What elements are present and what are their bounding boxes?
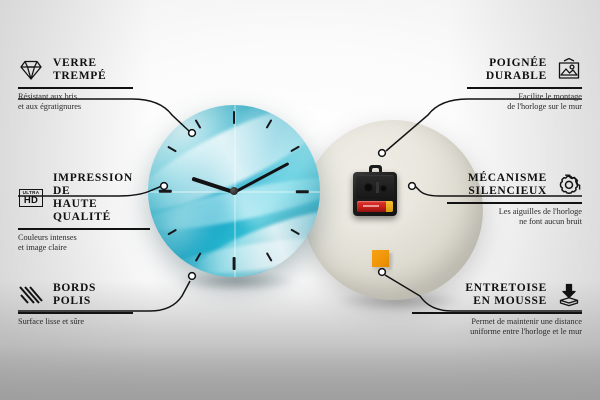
- background-floor-shadow: [0, 345, 600, 400]
- mechanism-face: [356, 175, 394, 199]
- callout-title: MÉCANISME SILENCIEUX: [468, 172, 547, 198]
- callout-subtitle: Résistant aux bris et aux égratignures: [18, 92, 133, 113]
- callout-header: MÉCANISME SILENCIEUX: [447, 172, 582, 198]
- callout-subtitle: Permet de maintenir une distance uniform…: [412, 317, 582, 338]
- clock-tick-12: [233, 111, 236, 124]
- callout-subtitle: Les aiguilles de l'horloge ne font aucun…: [447, 207, 582, 228]
- callout-rule: [18, 87, 133, 89]
- callout-verre-trempe: VERRE TREMPÉ Résistant aux bris et aux é…: [18, 57, 133, 113]
- down-arrow-foam-icon: [556, 283, 582, 307]
- callout-mecanisme-silencieux: MÉCANISME SILENCIEUX Les aiguilles de l'…: [447, 172, 582, 228]
- callout-subtitle: Surface lisse et sûre: [18, 317, 133, 328]
- callout-entretoise-en-mousse: ENTRETOISE EN MOUSSE Permet de maintenir…: [412, 282, 582, 338]
- callout-title: POIGNÉE DURABLE: [486, 57, 547, 83]
- battery: [357, 201, 393, 212]
- callout-title: VERRE TREMPÉ: [53, 57, 106, 83]
- product-infographic: VERRE TREMPÉ Résistant aux bris et aux é…: [0, 0, 600, 400]
- polished-edges-icon: [18, 283, 44, 307]
- callout-poignee-durable: POIGNÉE DURABLE Facilite le montage de l…: [467, 57, 582, 113]
- callout-title: IMPRESSION DE HAUTE QUALITÉ: [53, 172, 150, 224]
- callout-rule: [18, 312, 133, 314]
- clock-tick-6: [233, 257, 236, 270]
- clock-center-cap: [230, 187, 238, 195]
- gear-icon: [556, 173, 582, 197]
- callout-rule: [412, 312, 582, 314]
- ultra-hd-icon: ultra HD: [18, 186, 44, 210]
- callout-header: ultra HD IMPRESSION DE HAUTE QUALITÉ: [18, 172, 150, 224]
- foam-spacer: [372, 250, 389, 267]
- mechanism-detail: [364, 183, 373, 192]
- callout-impression-haute-qualite: ultra HD IMPRESSION DE HAUTE QUALITÉ Cou…: [18, 172, 150, 254]
- clock-tick-3: [296, 190, 309, 193]
- clock-tick-9: [159, 190, 172, 193]
- mechanism-detail: [376, 182, 379, 193]
- callout-subtitle: Facilite le montage de l'horloge sur le …: [467, 92, 582, 113]
- callout-bords-polis: BORDS POLIS Surface lisse et sûre: [18, 282, 133, 327]
- callout-rule: [18, 228, 150, 230]
- callout-header: BORDS POLIS: [18, 282, 133, 308]
- callout-subtitle: Couleurs intenses et image claire: [18, 233, 150, 254]
- callout-title: BORDS POLIS: [53, 282, 96, 308]
- callout-header: POIGNÉE DURABLE: [467, 57, 582, 83]
- hd-badge-large: HD: [23, 196, 40, 206]
- callout-title: ENTRETOISE EN MOUSSE: [465, 282, 547, 308]
- callout-rule: [467, 87, 582, 89]
- callout-header: VERRE TREMPÉ: [18, 57, 133, 83]
- mechanism-detail: [380, 185, 387, 192]
- foam-spacer-side: [389, 253, 395, 270]
- diamond-icon: [18, 58, 44, 82]
- callout-header: ENTRETOISE EN MOUSSE: [412, 282, 582, 308]
- clock-face: [148, 105, 320, 277]
- clock-mechanism: [353, 172, 397, 216]
- callout-rule: [447, 202, 582, 204]
- hanging-picture-icon: [556, 58, 582, 82]
